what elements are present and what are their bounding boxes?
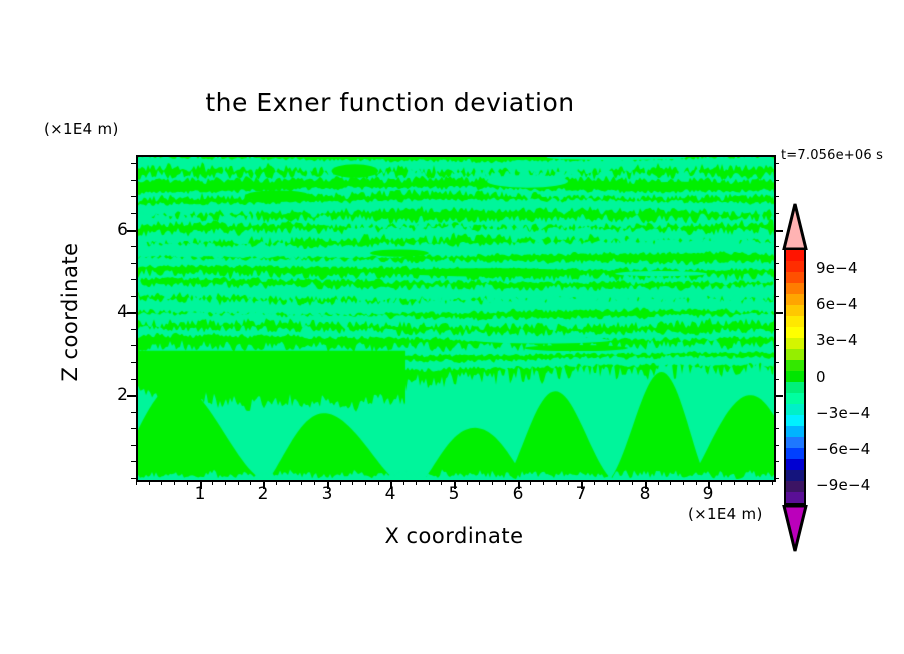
x-tick-minor [174, 480, 175, 485]
x-tick-minor [619, 480, 620, 485]
x-tick-minor [378, 480, 379, 485]
y-tick-minor [131, 445, 136, 446]
colorbar-tick-label: −6e−4 [816, 440, 870, 458]
x-tick-label: 4 [385, 484, 396, 504]
time-annotation: t=7.056e+06 s [781, 148, 883, 163]
colorbar-band [786, 327, 804, 338]
y-tick-minor [774, 180, 779, 181]
x-tick-minor [429, 480, 430, 485]
x-tick-minor [683, 480, 684, 485]
y-tick-minor [131, 296, 136, 297]
y-tick-minor [131, 362, 136, 363]
colorbar-band [786, 250, 804, 261]
x-tick-minor [212, 480, 213, 485]
y-tick-label: 2 [102, 385, 128, 405]
y-tick-minor [131, 213, 136, 214]
y-tick-minor [131, 478, 136, 479]
y-tick-minor [131, 379, 136, 380]
y-tick-minor [131, 180, 136, 181]
colorbar-band [786, 360, 804, 371]
colorbar-band [786, 261, 804, 272]
colorbar-band [786, 470, 804, 481]
colorbar-band [786, 459, 804, 470]
x-tick-minor [365, 480, 366, 485]
y-tick-minor [131, 279, 136, 280]
colorbar-tick-label: −9e−4 [816, 476, 870, 494]
y-tick-label: 6 [102, 220, 128, 240]
x-tick-minor [734, 480, 735, 485]
x-tick-label: 7 [576, 484, 587, 504]
x-tick-minor [696, 480, 697, 485]
x-tick-label: 9 [703, 484, 714, 504]
y-tick-minor [131, 196, 136, 197]
colorbar-tick-label: 9e−4 [816, 259, 858, 277]
colorbar-band [786, 272, 804, 283]
x-tick-minor [225, 480, 226, 485]
x-tick-minor [416, 480, 417, 485]
colorbar-over-arrow [782, 202, 808, 248]
x-tick-minor [161, 480, 162, 485]
y-tick-minor [131, 329, 136, 330]
contour-plot-area [136, 155, 776, 482]
x-tick-minor [670, 480, 671, 485]
x-tick-minor [543, 480, 544, 485]
y-tick-minor [131, 345, 136, 346]
y-tick-minor [131, 412, 136, 413]
y-tick-major [127, 395, 136, 397]
colorbar-band [786, 437, 804, 448]
x-tick-minor [136, 480, 137, 485]
colorbar-band [786, 305, 804, 316]
x-tick-minor [314, 480, 315, 485]
x-tick-minor [276, 480, 277, 485]
colorbar-band [786, 393, 804, 404]
y-tick-minor [131, 428, 136, 429]
x-tick-minor [441, 480, 442, 485]
colorbar-band [786, 283, 804, 294]
y-tick-minor [131, 461, 136, 462]
colorbar-band [786, 481, 804, 492]
x-axis-title: X coordinate [136, 524, 772, 548]
y-tick-major [127, 230, 136, 232]
x-tick-minor [289, 480, 290, 485]
x-tick-minor [479, 480, 480, 485]
x-tick-minor [772, 480, 773, 485]
y-axis-unit-label: (×1E4 m) [44, 120, 119, 138]
colorbar-band [786, 349, 804, 360]
x-tick-minor [492, 480, 493, 485]
colorbar-band [786, 382, 804, 393]
colorbar-band [786, 448, 804, 459]
x-tick-label: 8 [640, 484, 651, 504]
x-tick-minor [403, 480, 404, 485]
x-tick-label: 6 [513, 484, 524, 504]
colorbar-band [786, 338, 804, 349]
colorbar-tick-label: 6e−4 [816, 295, 858, 313]
x-tick-minor [556, 480, 557, 485]
y-tick-major [127, 312, 136, 314]
y-tick-minor [131, 263, 136, 264]
y-tick-label: 4 [102, 302, 128, 322]
x-tick-minor [568, 480, 569, 485]
x-tick-minor [658, 480, 659, 485]
x-tick-minor [340, 480, 341, 485]
x-tick-minor [149, 480, 150, 485]
colorbar: 9e−46e−43e−40−3e−4−6e−4−9e−4 [778, 196, 898, 516]
colorbar-band [786, 415, 804, 426]
x-axis-unit-label: (×1E4 m) [688, 505, 763, 523]
x-tick-minor [607, 480, 608, 485]
contour-field-canvas [138, 157, 774, 480]
colorbar-bands [784, 248, 806, 505]
colorbar-band [786, 426, 804, 437]
x-tick-label: 1 [195, 484, 206, 504]
x-tick-label: 3 [322, 484, 333, 504]
y-tick-minor [774, 163, 779, 164]
colorbar-band [786, 294, 804, 305]
x-tick-minor [759, 480, 760, 485]
y-tick-minor [131, 163, 136, 164]
colorbar-band [786, 492, 804, 503]
x-tick-label: 2 [258, 484, 269, 504]
colorbar-tick-label: 3e−4 [816, 331, 858, 349]
x-tick-label: 5 [449, 484, 460, 504]
x-tick-minor [301, 480, 302, 485]
x-tick-minor [594, 480, 595, 485]
x-tick-minor [721, 480, 722, 485]
page-title: the Exner function deviation [0, 88, 780, 117]
x-tick-minor [352, 480, 353, 485]
colorbar-under-arrow [782, 505, 808, 551]
colorbar-band [786, 404, 804, 415]
colorbar-band [786, 316, 804, 327]
x-tick-minor [747, 480, 748, 485]
y-tick-minor [131, 246, 136, 247]
x-tick-minor [632, 480, 633, 485]
x-tick-minor [530, 480, 531, 485]
colorbar-tick-label: 0 [816, 368, 826, 386]
x-tick-minor [505, 480, 506, 485]
x-tick-minor [467, 480, 468, 485]
colorbar-band [786, 371, 804, 382]
colorbar-tick-label: −3e−4 [816, 404, 870, 422]
y-axis-title: Z coordinate [58, 212, 82, 412]
x-tick-minor [187, 480, 188, 485]
x-tick-minor [238, 480, 239, 485]
x-tick-minor [250, 480, 251, 485]
